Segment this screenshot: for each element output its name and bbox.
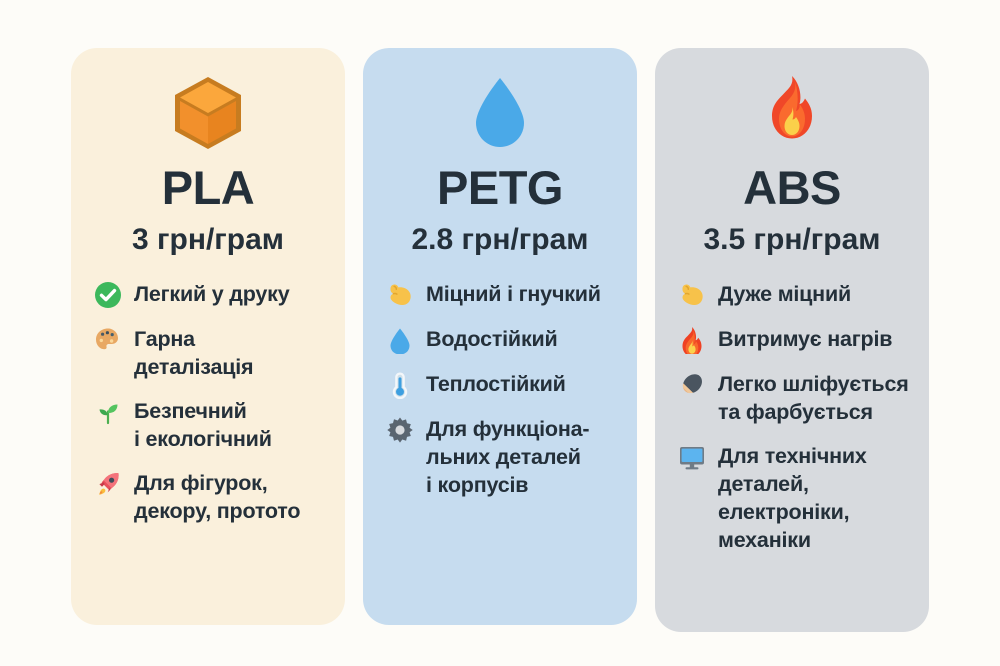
desktop-computer-icon: [677, 442, 707, 472]
list-item: Для фігурок, декору, протото: [93, 470, 325, 526]
list-item: Для технічних деталей, електроніки, меха…: [677, 443, 909, 555]
feature-label: Міцний і гнучкий: [426, 281, 601, 309]
feature-label: Для фігурок, декору, протото: [134, 470, 300, 526]
list-item: Теплостійкий: [385, 371, 617, 400]
list-item: Витримує нагрів: [677, 326, 909, 355]
feature-label: Витримує нагрів: [718, 326, 892, 354]
feature-label: Водостійкий: [426, 326, 558, 354]
list-item: Гарна деталізація: [93, 326, 325, 382]
feature-list-pla: Легкий у друку Гарна деталізація: [87, 281, 329, 526]
card-price-pla: 3 грн/грам: [132, 225, 284, 255]
list-item: Легкий у друку: [93, 281, 325, 310]
seedling-icon: [93, 397, 123, 427]
list-item: Водостійкий: [385, 326, 617, 355]
feature-label: Теплостійкий: [426, 371, 566, 399]
list-item: Для функціона- льних деталей і корпусів: [385, 416, 617, 500]
material-card-abs: ABS 3.5 грн/грам Дуже міцний: [655, 48, 929, 632]
list-item: Дуже міцний: [677, 281, 909, 310]
green-check-circle-icon: [93, 280, 123, 310]
flexed-biceps-icon: [385, 280, 415, 310]
list-item: Міцний і гнучкий: [385, 281, 617, 310]
card-title-abs: ABS: [743, 164, 841, 211]
flexed-biceps-icon: [677, 280, 707, 310]
card-price-petg: 2.8 грн/грам: [411, 225, 588, 255]
gear-icon: [385, 415, 415, 445]
thermometer-icon: [385, 370, 415, 400]
card-title-pla: PLA: [162, 164, 255, 211]
material-comparison-board: PLA 3 грн/грам Легкий у друку: [0, 0, 1000, 666]
feature-label: Гарна деталізація: [134, 326, 253, 382]
list-item: Безпечний і екологічний: [93, 398, 325, 454]
feature-list-petg: Міцний і гнучкий Водостійкий: [379, 281, 621, 500]
feature-list-abs: Дуже міцний Витримує нагрів: [671, 281, 913, 555]
material-card-pla: PLA 3 грн/грам Легкий у друку: [71, 48, 345, 625]
list-item: Легко шліфується та фарбується: [677, 371, 909, 427]
rocket-icon: [93, 469, 123, 499]
feature-label: Легко шліфується та фарбується: [718, 371, 909, 427]
card-price-abs: 3.5 грн/грам: [703, 225, 880, 255]
card-title-petg: PETG: [437, 164, 563, 211]
feature-label: Для технічних деталей, електроніки, меха…: [718, 443, 867, 555]
blue-droplet-icon: [468, 74, 532, 152]
feature-label: Дуже міцний: [718, 281, 851, 309]
feature-label: Легкий у друку: [134, 281, 289, 309]
artist-palette-icon: [93, 325, 123, 355]
fire-icon: [759, 74, 825, 152]
sanding-block-icon: [677, 370, 707, 400]
feature-label: Для функціона- льних деталей і корпусів: [426, 416, 589, 500]
feature-label: Безпечний і екологічний: [134, 398, 272, 454]
material-card-petg: PETG 2.8 грн/грам Міцний і гнучкий: [363, 48, 637, 625]
orange-cube-icon: [171, 74, 245, 152]
fire-icon: [677, 325, 707, 355]
droplet-icon: [385, 325, 415, 355]
